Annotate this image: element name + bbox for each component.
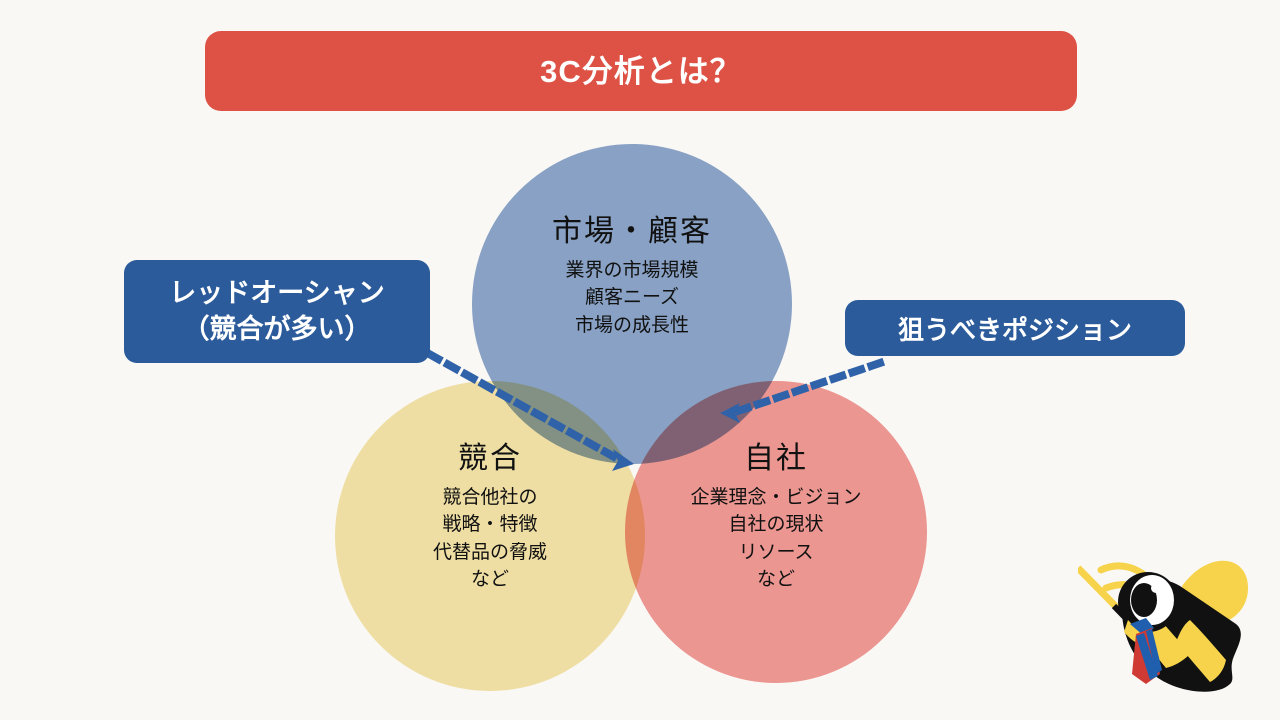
venn-heading-company: 自社 bbox=[628, 440, 924, 478]
callout-red-ocean-line1: レッドオーシャン bbox=[169, 276, 384, 311]
venn-label-company: 自社 企業理念・ビジョン自社の現状リソースなど bbox=[628, 440, 924, 594]
venn-item-line: 市場の成長性 bbox=[482, 312, 782, 340]
bee-mascot-icon bbox=[1078, 528, 1280, 713]
venn-heading-competitor: 競合 bbox=[345, 440, 635, 478]
callout-target-position[interactable]: 狙うべきポジション bbox=[845, 300, 1185, 356]
venn-heading-market: 市場・顧客 bbox=[482, 213, 782, 251]
callout-target-position-line1: 狙うべきポジション bbox=[898, 310, 1132, 347]
slide-canvas: 3C分析とは？ 市場・顧客 業界の市場規模顧客ニーズ市場の成長性 競合 競合他社… bbox=[0, 0, 1280, 720]
venn-item-line: 戦略・特徴 bbox=[345, 511, 635, 539]
venn-items-company: 企業理念・ビジョン自社の現状リソースなど bbox=[628, 484, 924, 594]
venn-item-line: 自社の現状 bbox=[628, 511, 924, 539]
venn-label-competitor: 競合 競合他社の戦略・特徴代替品の脅威など bbox=[345, 440, 635, 594]
venn-item-line: など bbox=[628, 566, 924, 594]
bee-eye-highlight-icon bbox=[1151, 583, 1161, 593]
venn-item-line: 業界の市場規模 bbox=[482, 257, 782, 285]
venn-item-line: など bbox=[345, 566, 635, 594]
venn-item-line: 代替品の脅威 bbox=[345, 539, 635, 567]
venn-label-market: 市場・顧客 業界の市場規模顧客ニーズ市場の成長性 bbox=[482, 213, 782, 339]
callout-red-ocean-line2: （競合が多い） bbox=[183, 312, 372, 347]
callout-red-ocean[interactable]: レッドオーシャン （競合が多い） bbox=[124, 260, 430, 363]
venn-items-competitor: 競合他社の戦略・特徴代替品の脅威など bbox=[345, 484, 635, 594]
venn-item-line: 企業理念・ビジョン bbox=[628, 484, 924, 512]
venn-item-line: リソース bbox=[628, 539, 924, 567]
venn-item-line: 顧客ニーズ bbox=[482, 284, 782, 312]
venn-items-market: 業界の市場規模顧客ニーズ市場の成長性 bbox=[482, 257, 782, 340]
venn-item-line: 競合他社の bbox=[345, 484, 635, 512]
